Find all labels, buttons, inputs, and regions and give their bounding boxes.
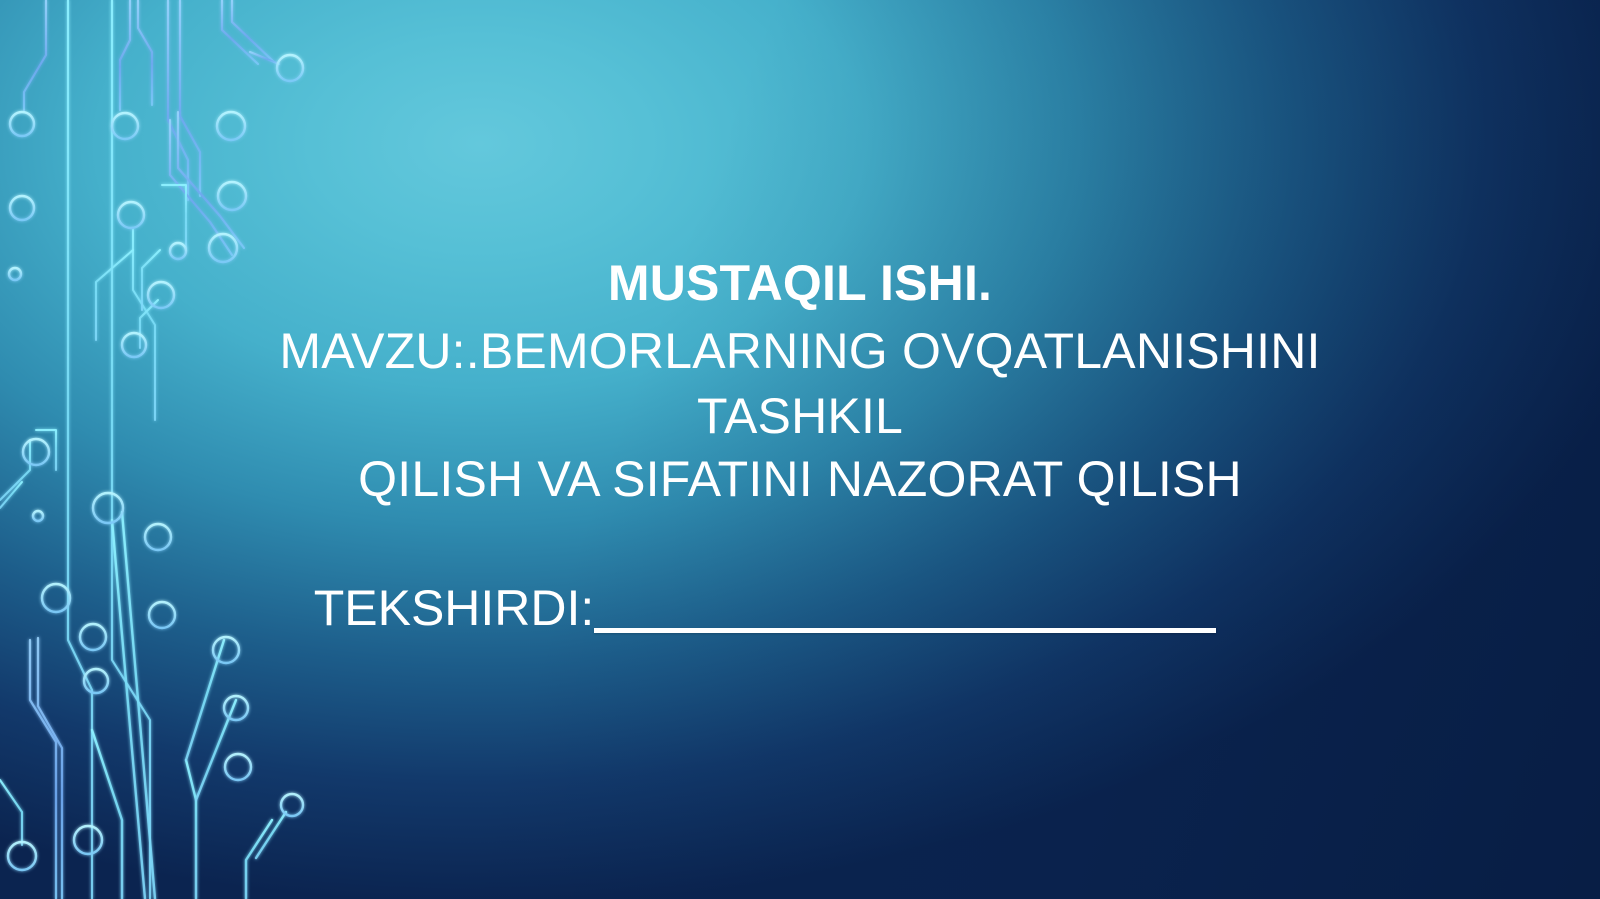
- title-line-2: MAVZU:.BEMORLARNING OVQATLANISHINI: [0, 326, 1600, 376]
- signature-row: TEKSHIRDI:: [0, 583, 1600, 633]
- signature-label: TEKSHIRDI:: [314, 583, 595, 633]
- signature-blank-line: [594, 628, 1216, 633]
- title-line-1: MUSTAQIL ISHI.: [0, 258, 1600, 308]
- presentation-slide: MUSTAQIL ISHI. MAVZU:.BEMORLARNING OVQAT…: [0, 0, 1600, 899]
- signature-group: TEKSHIRDI:: [314, 583, 1217, 633]
- title-line-3: TASHKIL: [0, 391, 1600, 441]
- title-line-4: QILISH VA SIFATINI NAZORAT QILISH: [0, 454, 1600, 504]
- slide-text-block: MUSTAQIL ISHI. MAVZU:.BEMORLARNING OVQAT…: [0, 0, 1600, 899]
